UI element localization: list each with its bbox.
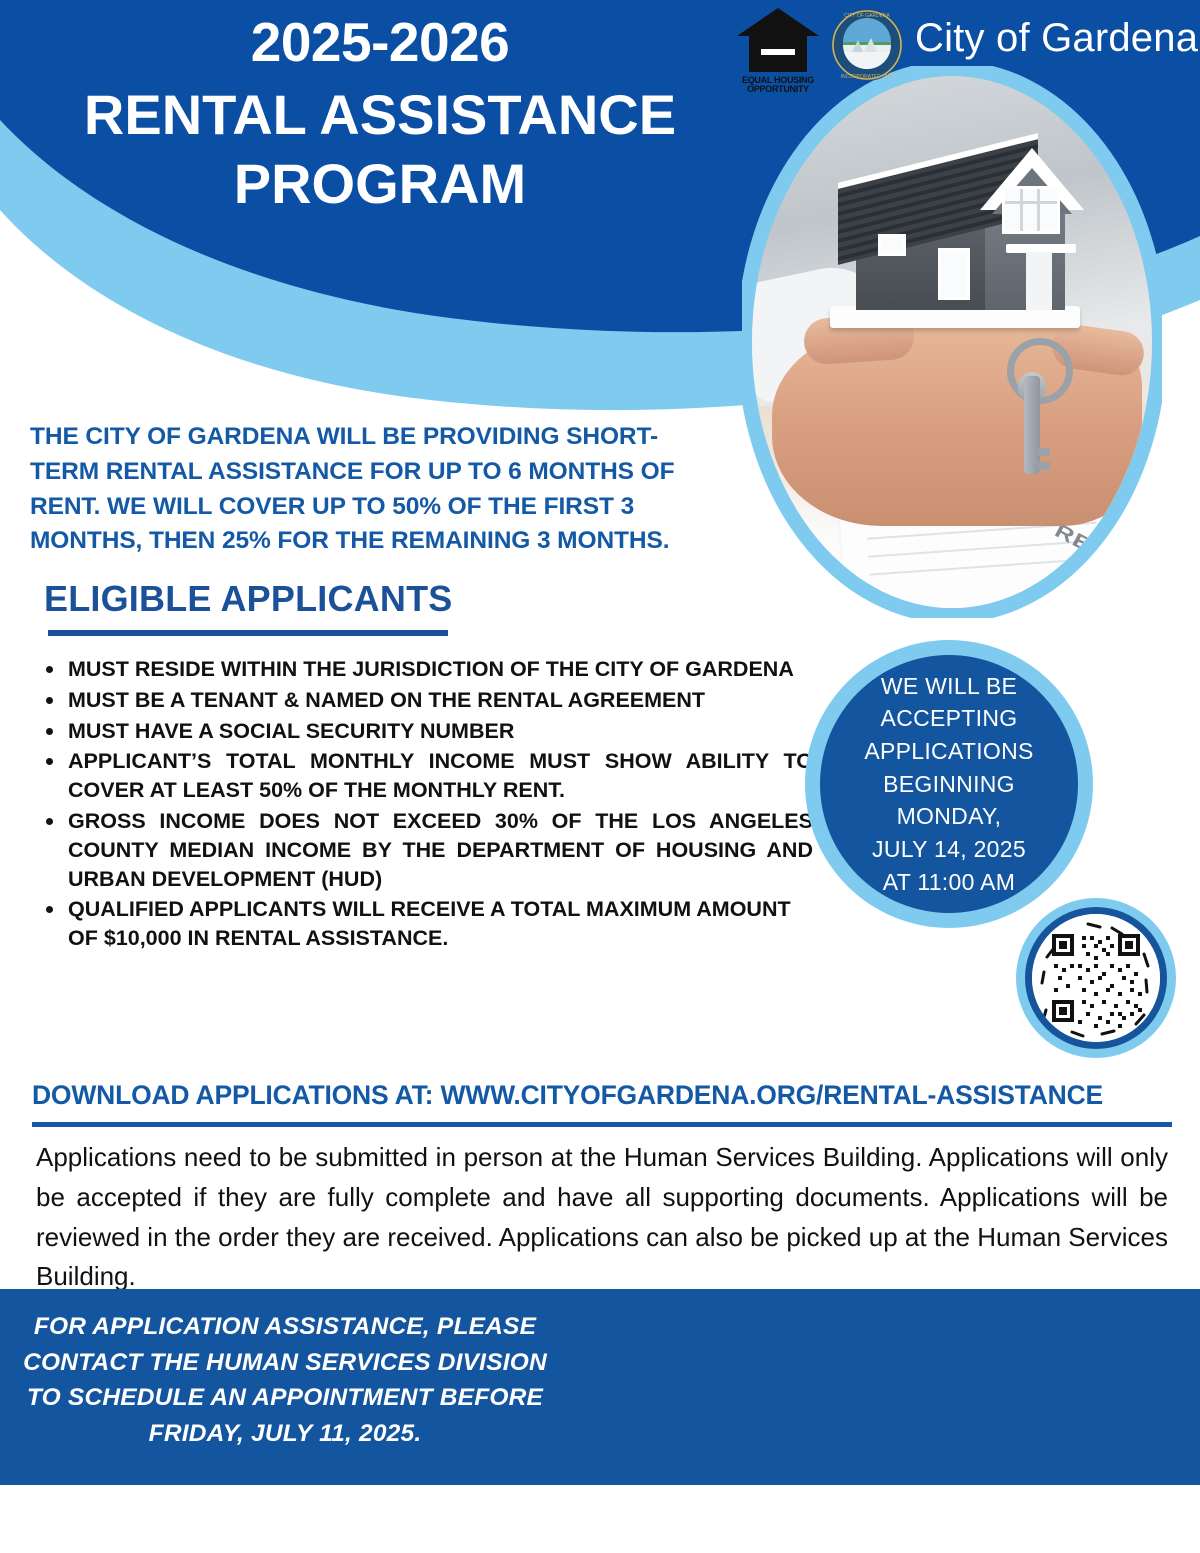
key-tooth-1 — [1038, 448, 1050, 456]
house-door — [1026, 252, 1052, 310]
title-year: 2025-2026 — [40, 14, 720, 72]
house-window-small — [878, 234, 906, 256]
accepting-line-6: JULY 14, 2025 — [864, 833, 1033, 866]
equal-housing-opportunity-icon: EQUAL HOUSING OPPORTUNITY — [735, 6, 821, 94]
accepting-applications-badge: WE WILL BE ACCEPTING APPLICATIONS BEGINN… — [820, 655, 1078, 913]
accepting-line-2: ACCEPTING — [864, 702, 1033, 735]
intro-paragraph: THE CITY OF GARDENA WILL BE PROVIDING SH… — [30, 420, 720, 559]
list-item: MUST RESIDE WITHIN THE JURISDICTION OF T… — [68, 655, 813, 684]
city-name-label: City of Gardena — [915, 16, 1198, 61]
svg-text:CITY OF GARDENA: CITY OF GARDENA — [844, 13, 890, 19]
key-shaft — [1024, 376, 1040, 474]
list-item: APPLICANT’S TOTAL MONTHLY INCOME MUST SH… — [68, 747, 813, 805]
eho-house-glyph — [735, 6, 821, 76]
accepting-line-7: AT 11:00 AM — [864, 866, 1033, 899]
accepting-line-4: BEGINNING — [864, 768, 1033, 801]
download-applications-link[interactable]: DOWNLOAD APPLICATIONS AT: WWW.CITYOFGARD… — [32, 1080, 1172, 1111]
list-item: GROSS INCOME DOES NOT EXCEED 30% OF THE … — [68, 807, 813, 893]
qr-code[interactable] — [1032, 914, 1160, 1042]
accepting-badge-text: WE WILL BE ACCEPTING APPLICATIONS BEGINN… — [850, 670, 1047, 899]
qr-code-icon — [1032, 914, 1160, 1042]
title-line-1: RENTAL ASSISTANCE — [40, 80, 720, 149]
download-underline — [32, 1122, 1172, 1127]
accepting-line-5: MONDAY, — [864, 800, 1033, 833]
flyer-title-block: 2025-2026 RENTAL ASSISTANCE PROGRAM — [40, 14, 720, 219]
contact-band: FOR APPLICATION ASSISTANCE, PLEASE CONTA… — [0, 1289, 1200, 1485]
hero-photo-house-in-hand: RENT — [752, 76, 1152, 608]
flyer-page: RENT 2025-2026 — [0, 0, 1200, 1553]
eho-label: EQUAL HOUSING OPPORTUNITY — [735, 76, 821, 94]
footer-bar — [0, 1485, 1200, 1553]
model-house — [830, 136, 1080, 336]
svg-text:INCORPORATED 1930: INCORPORATED 1930 — [841, 74, 894, 80]
house-window-gable — [1002, 186, 1060, 234]
key-tooth-2 — [1038, 462, 1050, 470]
accepting-line-1: WE WILL BE — [864, 670, 1033, 703]
eligible-heading-underline — [48, 630, 448, 636]
eligible-applicants-list: MUST RESIDE WITHIN THE JURISDICTION OF T… — [34, 655, 813, 955]
eligible-applicants-heading: ELIGIBLE APPLICANTS — [44, 578, 452, 620]
city-seal-svg: CITY OF GARDENA INCORPORATED 1930 — [830, 8, 904, 82]
eho-label-line2: OPPORTUNITY — [735, 85, 821, 94]
house-window-side — [938, 248, 970, 300]
accepting-line-3: APPLICATIONS — [864, 735, 1033, 768]
city-of-gardena-seal-icon: CITY OF GARDENA INCORPORATED 1930 — [830, 8, 904, 82]
list-item: MUST HAVE A SOCIAL SECURITY NUMBER — [68, 717, 813, 746]
list-item: QUALIFIED APPLICANTS WILL RECEIVE A TOTA… — [68, 895, 813, 953]
body-paragraph: Applications need to be submitted in per… — [36, 1138, 1168, 1297]
title-line-2: PROGRAM — [40, 149, 720, 218]
contact-note: FOR APPLICATION ASSISTANCE, PLEASE CONTA… — [20, 1309, 550, 1451]
list-item: MUST BE A TENANT & NAMED ON THE RENTAL A… — [68, 686, 813, 715]
